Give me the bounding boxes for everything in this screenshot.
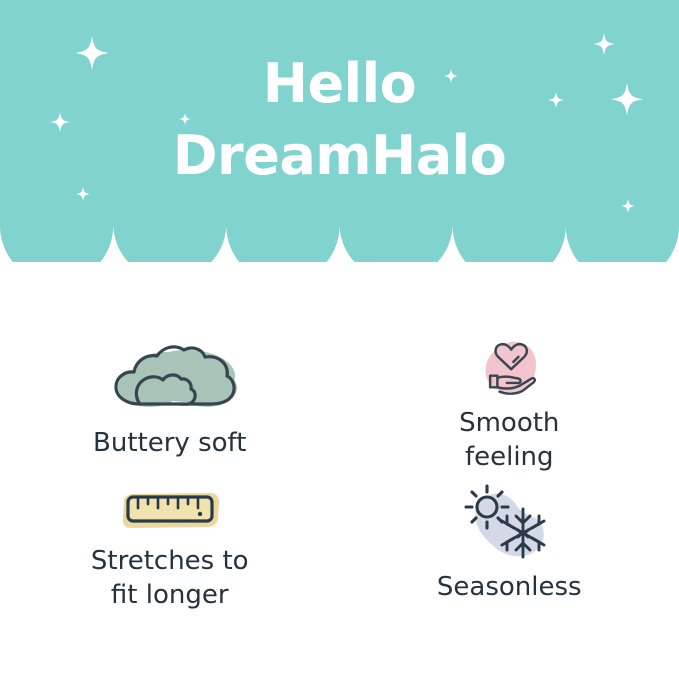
hand-heart-icon — [466, 338, 552, 396]
ruler-icon-dot — [198, 512, 202, 516]
feature-label-smooth-feeling: Smooth feeling — [459, 406, 559, 474]
scalloped-teal-shape — [0, 0, 679, 262]
ruler-icon — [117, 486, 223, 534]
ruler-icon-body — [128, 497, 212, 521]
hero-background-shape — [0, 0, 679, 262]
hero-banner: Hello DreamHalo — [0, 0, 679, 262]
feature-item-seasonless: Seasonless — [340, 474, 679, 664]
cloud-icon — [95, 342, 245, 414]
feature-label-seasonless: Seasonless — [437, 570, 582, 604]
feature-label-stretches: Stretches to fit longer — [91, 544, 249, 612]
feature-item-stretches: Stretches to fit longer — [0, 474, 340, 664]
feature-item-buttery-soft: Buttery soft — [0, 262, 340, 474]
feature-row-top: Buttery soft Smooth feeling — [0, 262, 679, 474]
feature-grid: Buttery soft Smooth feeling — [0, 262, 679, 676]
feature-row-bottom: Stretches to fit longer — [0, 474, 679, 664]
feature-label-buttery-soft: Buttery soft — [93, 426, 246, 460]
sun-snowflake-icon — [461, 480, 557, 562]
feature-item-smooth-feeling: Smooth feeling — [340, 262, 679, 474]
